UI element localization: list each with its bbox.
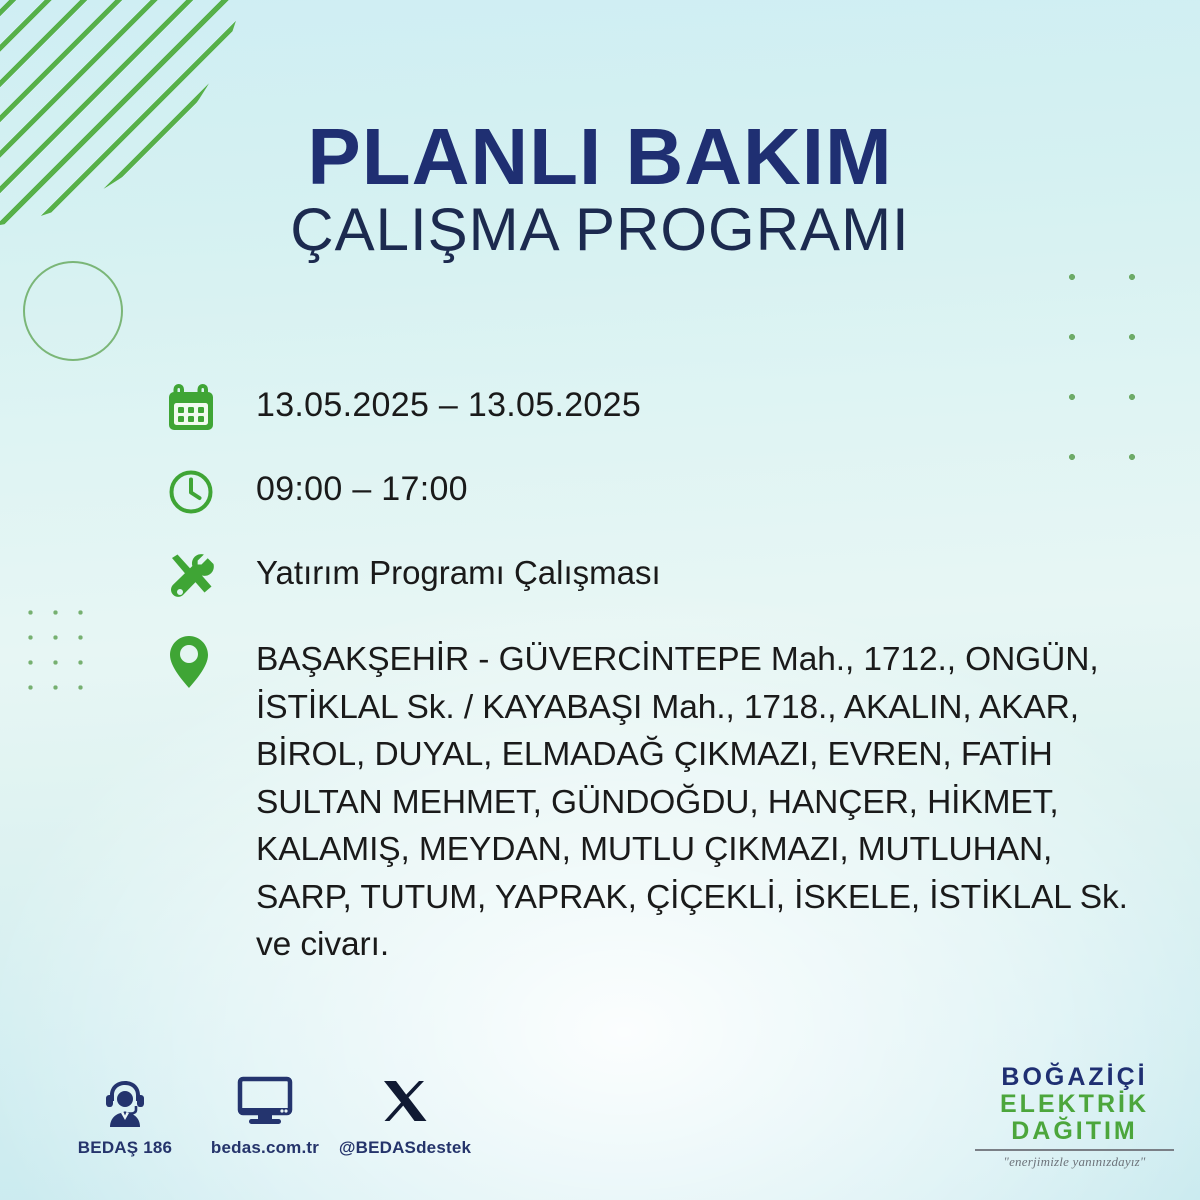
poster-header: PLANLI BAKIM ÇALIŞMA PROGRAMI xyxy=(0,118,1200,264)
footer-contacts: BEDAŞ 186 bedas.com.tr @B xyxy=(55,1072,475,1158)
address-line: SARP, TUTUM, YAPRAK, ÇİÇEKLİ, İSKELE, İS… xyxy=(256,874,1178,922)
contact-phone[interactable]: BEDAŞ 186 xyxy=(55,1072,195,1158)
map-pin-icon xyxy=(168,632,226,688)
address-line: SULTAN MEHMET, GÜNDOĞDU, HANÇER, HİKMET, xyxy=(256,779,1178,827)
brand-divider xyxy=(975,1149,1174,1151)
contact-x-label: @BEDASdestek xyxy=(335,1138,475,1158)
page-subtitle: ÇALIŞMA PROGRAMI xyxy=(0,196,1200,263)
brand-tagline: "enerjimizle yanınızdayız" xyxy=(967,1154,1182,1170)
call-center-agent-icon xyxy=(55,1072,195,1130)
brand-line-dagitim: DAĞITIM xyxy=(967,1118,1182,1145)
work-type-text: Yatırım Programı Çalışması xyxy=(226,550,1178,592)
x-twitter-icon xyxy=(335,1072,475,1130)
date-range-text: 13.05.2025 – 13.05.2025 xyxy=(226,382,1178,425)
clock-icon xyxy=(168,466,226,522)
contact-x-account[interactable]: @BEDASdestek xyxy=(335,1072,475,1158)
brand-line-elektrik: ELEKTRİK xyxy=(967,1091,1182,1118)
contact-website[interactable]: bedas.com.tr xyxy=(195,1072,335,1158)
dot-grid-left-decoration xyxy=(18,600,102,710)
time-range-text: 09:00 – 17:00 xyxy=(226,466,1178,509)
address-line: ve civarı. xyxy=(256,921,1178,969)
address-text: BAŞAKŞEHİR - GÜVERCİNTEPE Mah., 1712., O… xyxy=(226,632,1178,969)
brand-logo: BOĞAZİÇİ ELEKTRİK DAĞITIM "enerjimizle y… xyxy=(967,1064,1182,1170)
circle-outline-decoration xyxy=(23,261,123,361)
monitor-icon xyxy=(195,1072,335,1130)
date-row: 13.05.2025 – 13.05.2025 xyxy=(168,382,1178,438)
time-row: 09:00 – 17:00 xyxy=(168,466,1178,522)
location-row: BAŞAKŞEHİR - GÜVERCİNTEPE Mah., 1712., O… xyxy=(168,632,1178,969)
contact-website-label: bedas.com.tr xyxy=(195,1138,335,1158)
address-line: KALAMIŞ, MEYDAN, MUTLU ÇIKMAZI, MUTLUHAN… xyxy=(256,826,1178,874)
work-type-row: Yatırım Programı Çalışması xyxy=(168,550,1178,606)
address-line: BİROL, DUYAL, ELMADAĞ ÇIKMAZI, EVREN, FA… xyxy=(256,731,1178,779)
calendar-icon xyxy=(168,382,226,438)
tools-icon xyxy=(168,550,226,606)
brand-line-bogazici: BOĞAZİÇİ xyxy=(967,1064,1182,1091)
address-line: BAŞAKŞEHİR - GÜVERCİNTEPE Mah., 1712., O… xyxy=(256,636,1178,684)
planned-maintenance-poster: PLANLI BAKIM ÇALIŞMA PROGRAMI xyxy=(0,0,1200,1200)
page-title: PLANLI BAKIM xyxy=(0,118,1200,196)
contact-phone-label: BEDAŞ 186 xyxy=(55,1138,195,1158)
maintenance-details: 13.05.2025 – 13.05.2025 09:00 – 17:00 xyxy=(168,382,1178,997)
address-line: İSTİKLAL Sk. / KAYABAŞI Mah., 1718., AKA… xyxy=(256,684,1178,732)
